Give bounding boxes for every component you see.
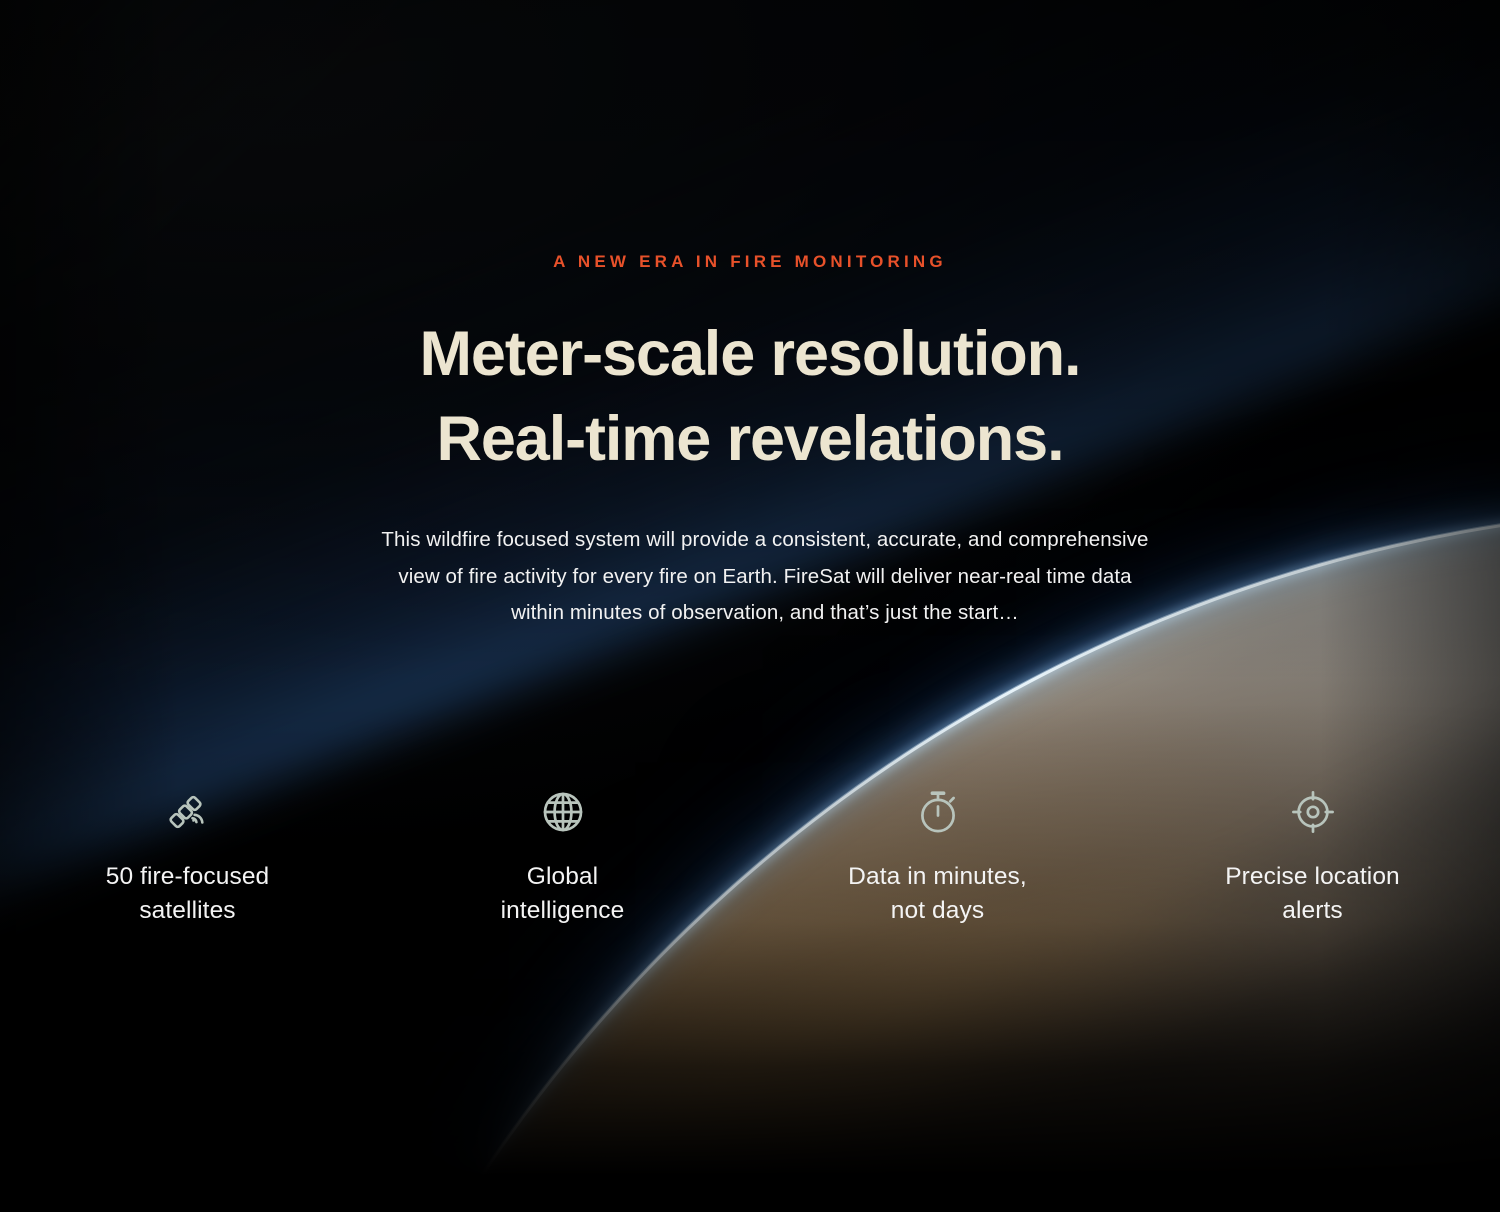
stopwatch-icon: [912, 786, 964, 838]
eyebrow-label: A NEW ERA IN FIRE MONITORING: [0, 252, 1500, 272]
feature-item-data-speed: Data in minutes, not days: [750, 786, 1125, 928]
feature-list: 50 fire-focused satellites Global intell…: [0, 786, 1500, 928]
feature-label: 50 fire-focused satellites: [106, 860, 270, 928]
feature-item-global-intelligence: Global intelligence: [375, 786, 750, 928]
crosshair-icon: [1287, 786, 1339, 838]
hero-description: This wildfire focused system will provid…: [370, 522, 1160, 632]
feature-label: Data in minutes, not days: [848, 860, 1027, 928]
feature-item-satellites: 50 fire-focused satellites: [0, 786, 375, 928]
feature-item-precise-location: Precise location alerts: [1125, 786, 1500, 928]
feature-label: Precise location alerts: [1225, 860, 1400, 928]
hero-section: A NEW ERA IN FIRE MONITORING Meter-scale…: [0, 0, 1500, 1212]
headline-line-2: Real-time revelations.: [0, 397, 1500, 482]
headline-line-1: Meter-scale resolution.: [420, 319, 1081, 389]
page-title: Meter-scale resolution. Real-time revela…: [0, 312, 1500, 482]
hero-content: A NEW ERA IN FIRE MONITORING Meter-scale…: [0, 0, 1500, 1212]
satellite-icon: [162, 786, 214, 838]
feature-label: Global intelligence: [501, 860, 625, 928]
globe-icon: [537, 786, 589, 838]
